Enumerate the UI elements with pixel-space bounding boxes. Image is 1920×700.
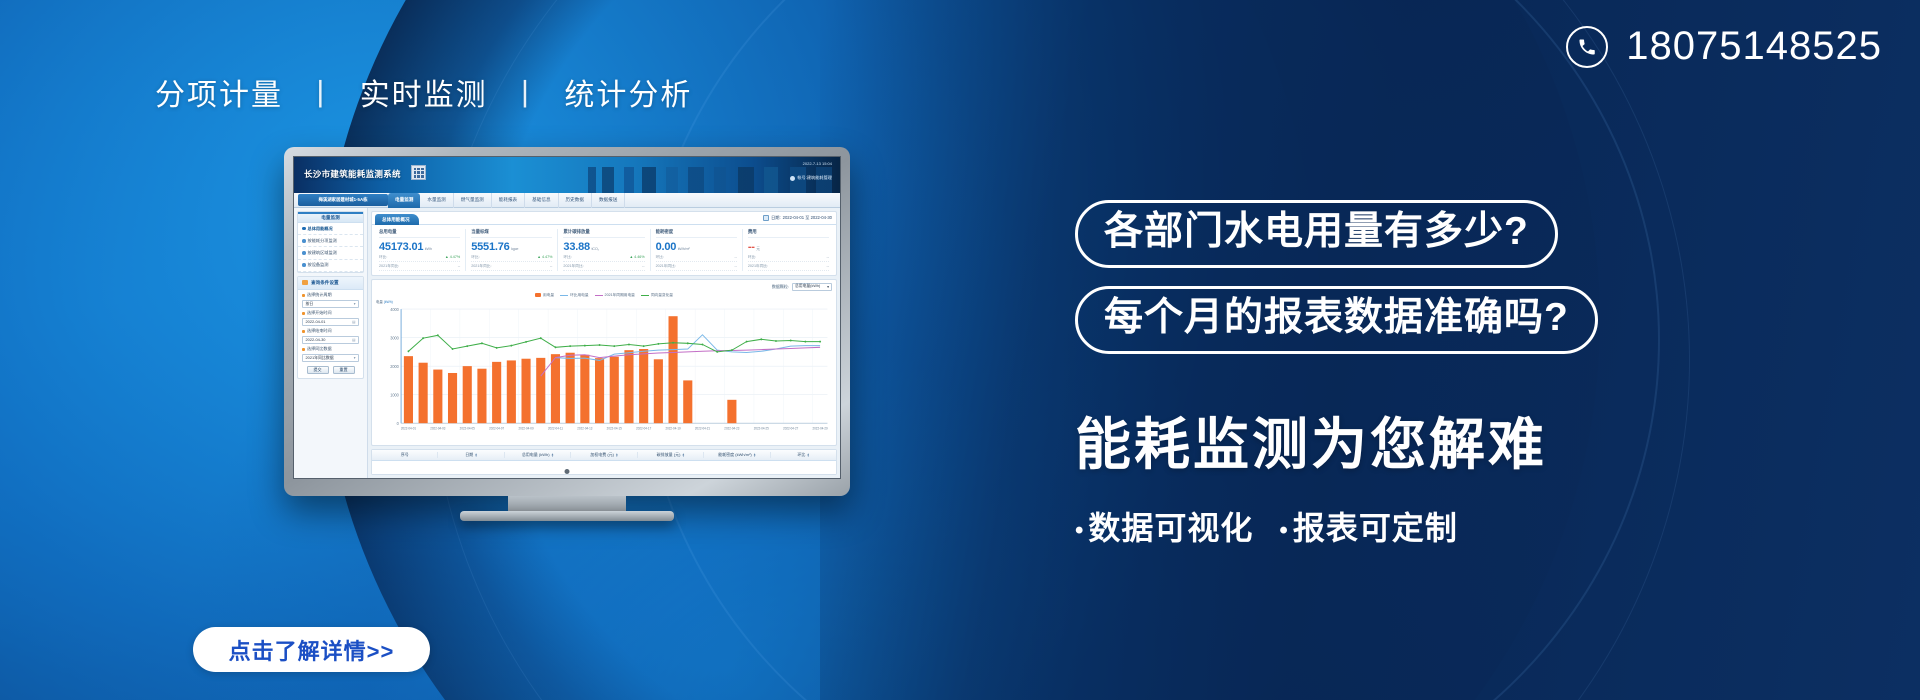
kpi-number: 45173.01 — [379, 241, 423, 253]
overview-tab[interactable]: 总体用能概况 — [375, 214, 419, 225]
filter-title-label: 查询条件设置 — [311, 280, 339, 286]
kpi-title: 累计碳排放量 — [563, 229, 644, 235]
svg-text:2022-04-17: 2022-04-17 — [636, 426, 651, 430]
kpi-unit: kgce — [511, 247, 518, 251]
kpi-cost: 费用 --元 环比: -- — [743, 229, 834, 271]
bullet-text-1: 数据可视化 — [1088, 510, 1253, 546]
sort-icon[interactable]: ▴▾ — [754, 453, 756, 457]
yoy-label: 2021年同比: — [656, 264, 676, 269]
kpi-number: 5551.76 — [471, 241, 509, 253]
phone-icon — [1566, 26, 1608, 68]
kpi-title: 当量标煤 — [471, 229, 552, 235]
kpi-yoy: 2021年同比: -- — [563, 264, 644, 271]
monitor-base — [460, 511, 674, 521]
sidebar-item-by-category[interactable]: 按能耗分项监测 — [298, 235, 363, 247]
kpi-value: 5551.76kgce — [471, 241, 552, 253]
compare-number: -- — [827, 255, 829, 259]
bullet-text-2: 报表可定制 — [1293, 510, 1458, 546]
column-label: 总用电量 (kWh) — [522, 452, 550, 458]
sort-icon[interactable]: ▴▾ — [682, 453, 684, 457]
svg-text:2022-04-25: 2022-04-25 — [754, 426, 769, 430]
column-label: 能耗密度 (kWh/m²) — [718, 452, 752, 458]
compare-number: 4.46% — [634, 255, 644, 259]
kpi-value: 33.88tCO₂ — [563, 241, 644, 253]
date-label: 日期: — [771, 215, 781, 221]
table-column-header[interactable]: 总用电量 (kWh)▴▾ — [505, 452, 571, 458]
legend-label: 同向量变化量 — [651, 293, 673, 298]
tagline: 分项计量 丨 实时监测 丨 统计分析 — [155, 70, 692, 114]
kpi-title: 能耗密度 — [656, 229, 737, 235]
divider — [563, 237, 644, 238]
legend-item-yoy[interactable]: 2021年同期用电量 — [595, 293, 635, 298]
yoy-select[interactable]: 2021年同比数据 ▾ — [302, 354, 359, 362]
sidebar-item-overview[interactable]: 总体用能概况 — [298, 223, 363, 235]
kpi-compare: 环比: -- — [656, 255, 737, 262]
submit-button[interactable]: 提交 — [307, 366, 329, 375]
yoy-label: 2021年同比: — [563, 264, 583, 269]
field-marker-icon — [302, 348, 305, 351]
dataset-select[interactable]: 总用电量(kWh) ▾ — [792, 283, 832, 291]
field-period: 选择统计周期 按日 ▾ — [298, 290, 363, 308]
kpi-value: 0.00kWh/m² — [656, 241, 737, 253]
kpi-total-electricity: 总用电量 45173.01kWh 环比: ▲ 4.47% — [374, 229, 466, 271]
chevron-down-icon: ▾ — [354, 302, 356, 306]
label-text: 选择开始时间 — [307, 310, 332, 316]
yoy-value: -- — [550, 264, 552, 268]
period-value: 按日 — [306, 301, 314, 307]
legend-label: 用电量 — [543, 293, 554, 298]
tagline-part-2: 实时监测 — [360, 79, 488, 112]
legend-label: 环比用电量 — [570, 293, 588, 298]
app-main-content: 总体用能概况 日期: 2022-04-01 至 2022-04-30 — [368, 208, 840, 478]
column-label: 环比 — [797, 452, 805, 458]
kpi-standard-coal: 当量标煤 5551.76kgce 环比: ▲ 4.47% — [466, 229, 558, 271]
marketing-copy: 各部门水电用量有多少? 每个月的报表数据准确吗? 能耗监测为您解难 •数据可视化… — [1075, 200, 1715, 549]
app-datetime: 2022-7-13 15:04 — [803, 161, 832, 166]
kpi-energy-density: 能耗密度 0.00kWh/m² 环比: -- — [651, 229, 743, 271]
yoy-value: -- — [642, 264, 644, 268]
monitor-screen: 长沙市建筑能耗监测系统 2022-7-13 15:04 帐号:建筑能耗管理 梅溪… — [293, 156, 841, 479]
label-text: 选择同比数据 — [307, 346, 332, 352]
legend-item-mom[interactable]: 环比用电量 — [560, 293, 588, 298]
svg-text:2022-04-09: 2022-04-09 — [518, 426, 533, 430]
table-header-row: 序号日期▴▾总用电量 (kWh)▴▾加权电费 (元)▴▾碳排放量 (元)▴▾能耗… — [372, 450, 836, 461]
overview-tabbar: 总体用能概况 日期: 2022-04-01 至 2022-04-30 — [372, 212, 836, 225]
yoy-label: 2021年同比: — [379, 264, 399, 269]
svg-text:2022-04-03: 2022-04-03 — [430, 426, 445, 430]
calendar-icon: ▤ — [352, 338, 355, 342]
sidebar-section-title: 电量监测 — [298, 212, 363, 223]
yoy-label: 2021年同比: — [748, 264, 768, 269]
start-date-input[interactable]: 2022-04-01 ▤ — [302, 318, 359, 326]
kpi-yoy: 2021年同比: -- — [379, 264, 460, 271]
bullet-icon — [302, 251, 306, 255]
kpi-compare: 环比: ▲ 4.47% — [379, 255, 460, 262]
nav-tab-history[interactable]: 历史数据 — [559, 193, 592, 208]
nav-tab-water[interactable]: 水量监测 — [420, 193, 453, 208]
tagline-separator-2: 丨 — [510, 70, 542, 114]
sort-icon[interactable]: ▴▾ — [616, 453, 618, 457]
column-label: 加权电费 (元) — [590, 452, 614, 458]
kpi-title: 总用电量 — [379, 229, 460, 235]
kpi-value: --元 — [748, 241, 829, 253]
filter-panel-title: 查询条件设置 — [298, 277, 363, 290]
sidebar-item-label: 按能耗分项监测 — [308, 238, 337, 244]
nav-tab-reports[interactable]: 能耗报表 — [492, 193, 525, 208]
tagline-part-3: 统计分析 — [564, 79, 692, 112]
sidebar-item-label: 按设备监测 — [308, 262, 329, 268]
column-label: 日期 — [465, 452, 473, 458]
sidebar-item-label: 按建筑区域监测 — [308, 250, 337, 256]
field-start-label: 选择开始时间 — [302, 310, 359, 316]
chart-panel: 数据颗粒: 总用电量(kWh) ▾ 用电量 — [371, 279, 837, 447]
start-date-value: 2022-04-01 — [306, 319, 326, 324]
question-pill-1-text: 各部门水电用量有多少? — [1104, 209, 1529, 255]
kpi-unit: kWh — [425, 247, 432, 251]
kpi-number: -- — [748, 241, 755, 253]
sort-icon[interactable]: ▴▾ — [475, 453, 477, 457]
legend-swatch — [595, 295, 603, 296]
app-logo-icon — [411, 165, 426, 180]
yoy-value: -- — [734, 264, 736, 268]
compare-value: ▲ 4.47% — [445, 255, 460, 259]
svg-text:2022-04-13: 2022-04-13 — [577, 426, 592, 430]
kpi-compare: 环比: ▲ 4.46% — [563, 255, 644, 262]
kpi-number: 0.00 — [656, 241, 677, 253]
bullet-icon — [302, 263, 306, 267]
chevron-down-icon: ▾ — [827, 284, 829, 289]
kpi-yoy: 2021年同比: -- — [748, 264, 829, 271]
app-title: 长沙市建筑能耗监测系统 — [304, 168, 401, 180]
field-marker-icon — [302, 294, 305, 297]
svg-text:2022-04-29: 2022-04-29 — [813, 426, 828, 430]
app-user-label: 帐号:建筑能耗管理 — [797, 175, 832, 181]
divider — [471, 237, 552, 238]
kpi-compare: 环比: ▲ 4.47% — [471, 255, 552, 262]
field-period-label: 选择统计周期 — [302, 292, 359, 298]
yoy-label: 2021年同比: — [471, 264, 491, 269]
monitor-mockup: 长沙市建筑能耗监测系统 2022-7-13 15:04 帐号:建筑能耗管理 梅溪… — [284, 147, 850, 496]
headline: 能耗监测为您解难 — [1075, 400, 1715, 481]
divider — [379, 237, 460, 238]
kpi-title: 费用 — [748, 229, 829, 235]
compare-value: ▲ 4.46% — [629, 255, 644, 259]
yoy-value: -- — [827, 264, 829, 268]
app-nav-bar: 梅溪湖家居建材城1-5A栋 电量监测 水量监测 燃气量监测 能耗报表 基础信息 … — [294, 193, 840, 208]
sidebar-nav-card: 电量监测 总体用能概况 按能耗分项监测 — [297, 211, 364, 273]
dataset-value: 总用电量(kWh) — [795, 284, 820, 289]
bullet-mark-2: • — [1279, 517, 1288, 544]
kpi-unit: tCO₂ — [591, 247, 598, 251]
svg-text:0: 0 — [397, 421, 400, 426]
question-pill-2: 每个月的报表数据准确吗? — [1075, 286, 1598, 354]
svg-text:4000: 4000 — [390, 306, 399, 311]
kpi-carbon-emission: 累计碳排放量 33.88tCO₂ 环比: ▲ 4.46% — [558, 229, 650, 271]
overview-panel: 总体用能概况 日期: 2022-04-01 至 2022-04-30 — [371, 211, 837, 276]
chart-plot-area: 电量 (kWh) 010002000300040002022-04-012022… — [376, 299, 832, 444]
svg-text:1000: 1000 — [390, 392, 399, 397]
column-label: 碳排放量 (元) — [657, 452, 681, 458]
app-user-account[interactable]: 帐号:建筑能耗管理 — [790, 175, 832, 181]
date-range-display[interactable]: 日期: 2022-04-01 至 2022-04-30 — [763, 215, 832, 221]
legend-item-bar[interactable]: 用电量 — [535, 293, 554, 298]
field-end-date: 选择结束时间 2022-04-30 ▤ — [298, 326, 363, 344]
table-column-header[interactable]: 日期▴▾ — [438, 452, 504, 458]
compare-label: 环比: — [656, 255, 664, 260]
svg-text:2022-04-07: 2022-04-07 — [489, 426, 504, 430]
divider — [748, 237, 829, 238]
date-range-value: 2022-04-01 至 2022-04-30 — [783, 215, 832, 221]
svg-text:2022-04-21: 2022-04-21 — [695, 426, 710, 430]
yoy-value: -- — [458, 264, 460, 268]
compare-value: ▲ 4.47% — [537, 255, 552, 259]
data-table-panel: 序号日期▴▾总用电量 (kWh)▴▾加权电费 (元)▴▾碳排放量 (元)▴▾能耗… — [371, 449, 837, 475]
end-date-value: 2022-04-30 — [306, 337, 326, 342]
table-column-header[interactable]: 能耗密度 (kWh/m²)▴▾ — [704, 452, 770, 458]
column-label: 序号 — [401, 452, 409, 458]
table-column-header[interactable]: 加权电费 (元)▴▾ — [571, 452, 637, 458]
field-start-date: 选择开始时间 2022-04-01 ▤ — [298, 308, 363, 326]
contact-phone[interactable]: 18075148525 — [1566, 24, 1882, 69]
compare-label: 环比: — [748, 255, 756, 260]
feature-bullets: •数据可视化•报表可定制 — [1075, 503, 1715, 549]
svg-text:2022-04-05: 2022-04-05 — [460, 426, 475, 430]
filter-button-row: 提交 重置 — [298, 362, 363, 379]
legend-label: 2021年同期用电量 — [605, 293, 635, 298]
bullet-mark-1: • — [1075, 517, 1084, 544]
calendar-icon — [763, 215, 769, 221]
nav-tab-basic-info[interactable]: 基础信息 — [525, 193, 558, 208]
label-text: 选择结束时间 — [307, 328, 332, 334]
sidebar-item-by-device[interactable]: 按设备监测 — [298, 260, 363, 272]
yoy-value: 2021年同比数据 — [306, 355, 334, 361]
energy-monitoring-app: 长沙市建筑能耗监测系统 2022-7-13 15:04 帐号:建筑能耗管理 梅溪… — [294, 157, 840, 478]
table-column-header[interactable]: 序号 — [372, 452, 438, 458]
legend-swatch — [560, 295, 568, 296]
svg-text:2022-04-19: 2022-04-19 — [666, 426, 681, 430]
compare-number: -- — [734, 255, 736, 259]
tagline-separator-1: 丨 — [305, 70, 337, 114]
energy-bar-chart: 010002000300040002022-04-012022-04-03202… — [376, 304, 832, 444]
nav-tab-data-submit[interactable]: 数据报送 — [592, 193, 625, 208]
tagline-part-1: 分项计量 — [155, 79, 283, 112]
kpi-compare: 环比: -- — [748, 255, 829, 262]
label-text: 选择统计周期 — [307, 292, 332, 298]
end-date-input[interactable]: 2022-04-30 ▤ — [302, 336, 359, 344]
svg-text:2022-04-15: 2022-04-15 — [607, 426, 622, 430]
bullet-icon — [302, 239, 306, 243]
sidebar-item-by-zone[interactable]: 按建筑区域监测 — [298, 247, 363, 259]
kpi-value: 45173.01kWh — [379, 241, 460, 253]
kpi-unit: 元 — [756, 247, 760, 251]
bullet-icon — [302, 227, 306, 231]
legend-item-delta[interactable]: 同向量变化量 — [641, 293, 673, 298]
compare-label: 环比: — [379, 255, 387, 260]
promo-banner: 分项计量 丨 实时监测 丨 统计分析 18075148525 长沙市建筑能耗监测… — [0, 0, 1920, 700]
app-sidebar: 电量监测 总体用能概况 按能耗分项监测 — [294, 208, 368, 478]
period-select[interactable]: 按日 ▾ — [302, 300, 359, 308]
svg-text:2022-04-23: 2022-04-23 — [724, 426, 739, 430]
sort-icon[interactable]: ▴▾ — [807, 453, 809, 457]
app-footer: 版本 — [294, 478, 840, 479]
reset-button[interactable]: 重置 — [333, 366, 355, 375]
nav-tab-gas[interactable]: 燃气量监测 — [454, 193, 492, 208]
svg-text:2022-04-27: 2022-04-27 — [783, 426, 798, 430]
user-avatar-icon — [790, 176, 795, 181]
cta-button[interactable]: 点击了解详情>> — [193, 627, 430, 672]
svg-text:2022-04-11: 2022-04-11 — [548, 426, 563, 430]
field-yoy: 选择同比数据 2021年同比数据 ▾ — [298, 344, 363, 362]
calendar-icon: ▤ — [352, 320, 355, 324]
monitor-bezel: 长沙市建筑能耗监测系统 2022-7-13 15:04 帐号:建筑能耗管理 梅溪… — [284, 147, 850, 496]
question-pill-2-text: 每个月的报表数据准确吗? — [1104, 295, 1569, 341]
sidebar-item-label: 总体用能概况 — [308, 226, 333, 232]
nav-tab-electricity[interactable]: 电量监测 — [388, 193, 420, 208]
table-body — [372, 461, 836, 474]
compare-label: 环比: — [563, 255, 571, 260]
table-column-header[interactable]: 环比▴▾ — [771, 452, 836, 458]
kpi-unit: kWh/m² — [678, 247, 690, 251]
compare-label: 环比: — [471, 255, 479, 260]
chart-legend: 用电量 环比用电量 2021年同期用电量 — [376, 293, 832, 298]
org-selector[interactable]: 梅溪湖家居建材城1-5A栋 — [298, 194, 388, 206]
compare-number: 4.47% — [450, 255, 460, 259]
app-body: 电量监测 总体用能概况 按能耗分项监测 — [294, 208, 840, 478]
legend-swatch — [641, 295, 649, 296]
sidebar-filter-card: 查询条件设置 选择统计周期 按日 ▾ — [297, 276, 364, 380]
dataset-label: 数据颗粒: — [772, 284, 789, 290]
table-column-header[interactable]: 碳排放量 (元)▴▾ — [638, 452, 704, 458]
compare-number: 4.47% — [542, 255, 552, 259]
filter-icon — [302, 280, 308, 285]
kpi-yoy: 2021年同比: -- — [471, 264, 552, 271]
svg-text:2000: 2000 — [390, 363, 399, 368]
kpi-row: 总用电量 45173.01kWh 环比: ▲ 4.47% — [372, 225, 836, 271]
divider — [656, 237, 737, 238]
kpi-number: 33.88 — [563, 241, 590, 253]
svg-text:3000: 3000 — [390, 335, 399, 340]
field-marker-icon — [302, 330, 305, 333]
field-marker-icon — [302, 312, 305, 315]
field-yoy-label: 选择同比数据 — [302, 346, 359, 352]
phone-number: 18075148525 — [1626, 24, 1882, 69]
field-end-label: 选择结束时间 — [302, 328, 359, 334]
sort-icon[interactable]: ▴▾ — [552, 453, 554, 457]
chart-controls: 数据颗粒: 总用电量(kWh) ▾ — [376, 283, 832, 291]
question-pill-1: 各部门水电用量有多少? — [1075, 200, 1558, 268]
monitor-power-led — [565, 469, 570, 474]
kpi-yoy: 2021年同比: -- — [656, 264, 737, 271]
chevron-down-icon: ▾ — [354, 356, 356, 360]
app-header: 长沙市建筑能耗监测系统 2022-7-13 15:04 帐号:建筑能耗管理 — [294, 157, 840, 193]
legend-swatch — [535, 293, 541, 297]
svg-text:2022-04-01: 2022-04-01 — [401, 426, 416, 430]
